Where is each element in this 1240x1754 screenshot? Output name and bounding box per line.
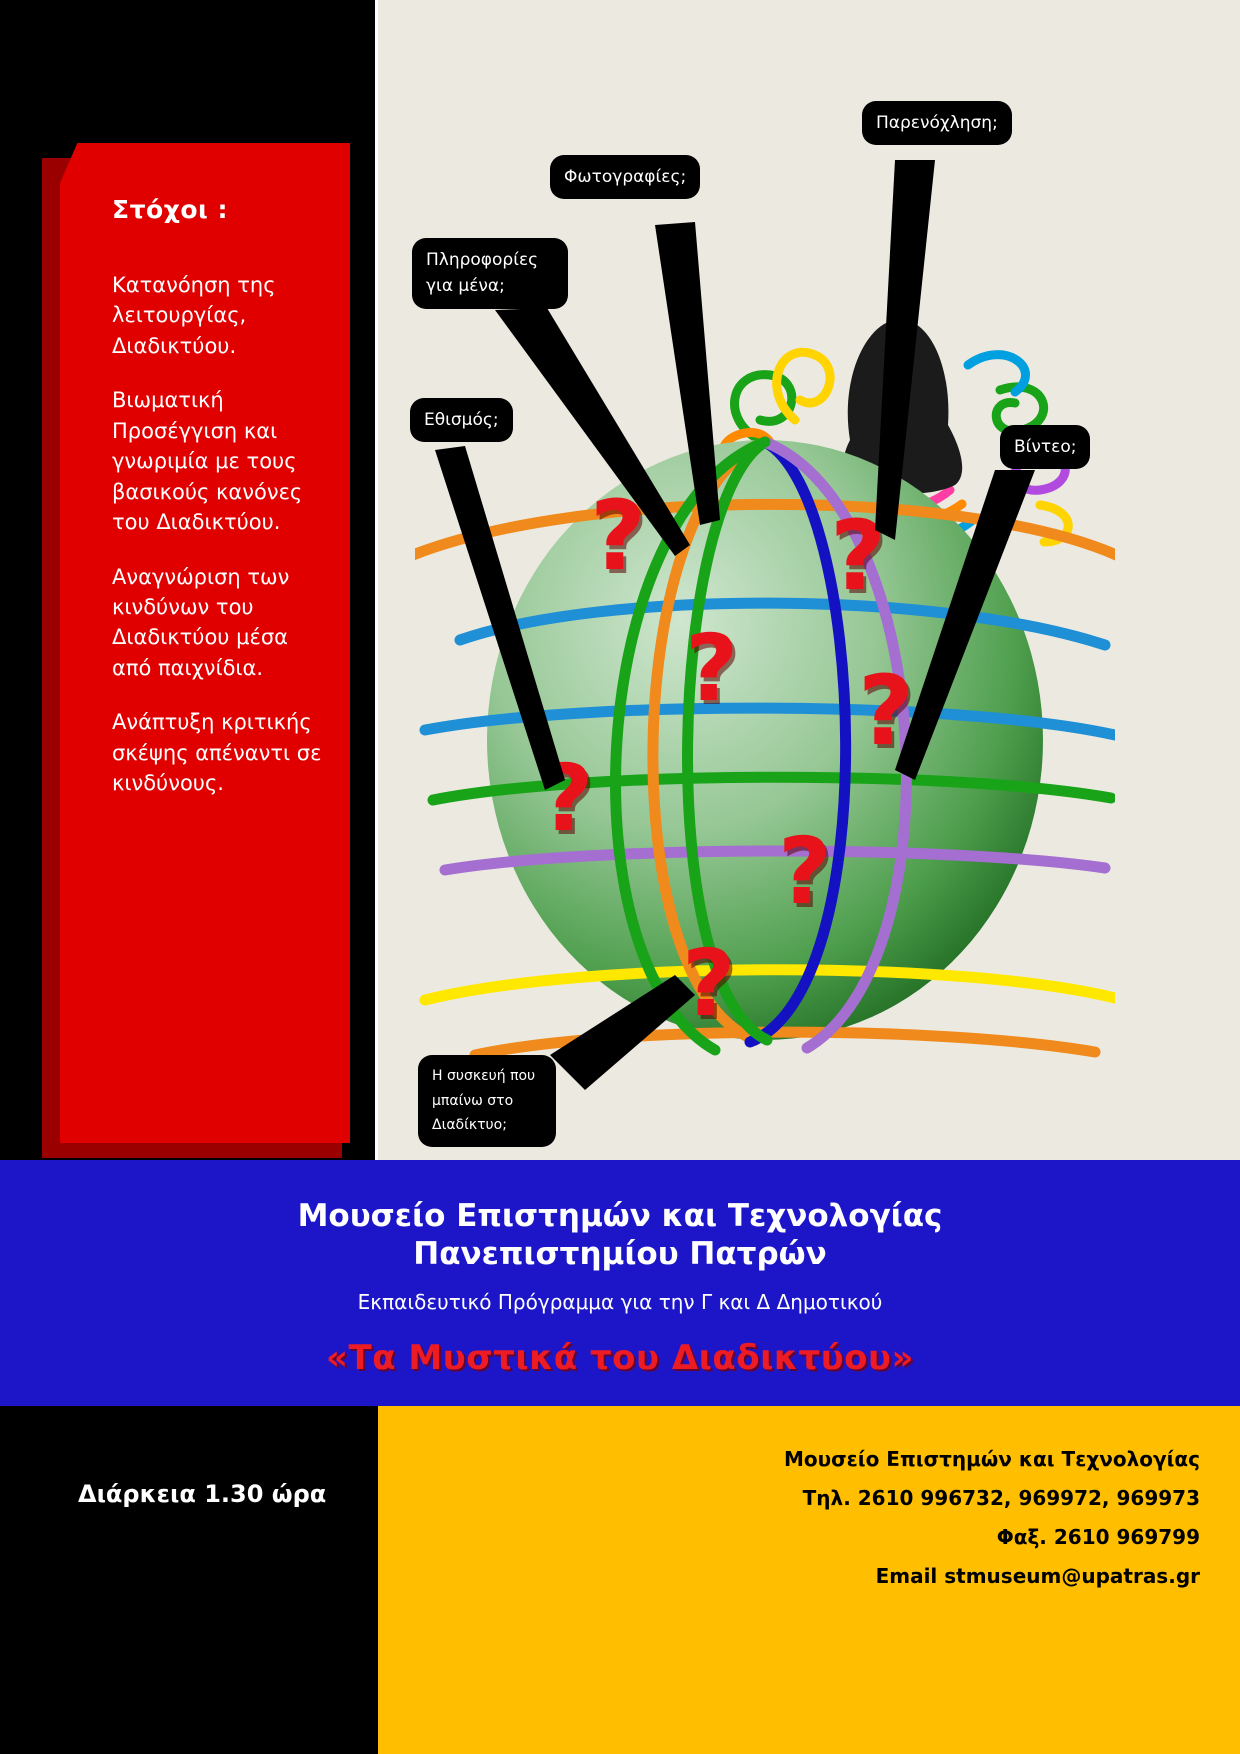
goal-item: Βιωματική Προσέγγιση και γνωριμία με του… [112,385,324,537]
goals-title: Στόχοι : [112,195,324,224]
duration-label: Διάρκεια 1.30 ώρα [78,1480,326,1508]
footer-blue-band: Μουσείο Επιστημών και Τεχνολογίας Πανεπι… [0,1160,1240,1406]
bubble-siskevi: Η συσκευή που μπαίνω στο Διαδίκτυο; [418,1055,556,1147]
bubble-parenoxlisi: Παρενόχληση; [862,101,1012,145]
bubble-vinteo: Βίντεο; [1000,425,1090,469]
program-description: Εκπαιδευτικό Πρόγραμμα για την Γ και Δ Δ… [0,1290,1240,1314]
poster-root: Στόχοι : Κατανόηση της λειτουργίας, Διαδ… [0,0,1240,1754]
contact-fax: Φαξ. 2610 969799 [378,1518,1200,1557]
contact-email: Email stmuseum@upatras.gr [378,1557,1200,1596]
bubble-pointer-lines [375,0,1240,1160]
organization-line-1: Μουσείο Επιστημών και Τεχνολογίας [0,1160,1240,1236]
contact-name: Μουσείο Επιστημών και Τεχνολογίας [378,1440,1200,1479]
bubble-fotografies: Φωτογραφίες; [550,155,700,199]
contact-phone: Τηλ. 2610 996732, 969972, 969973 [378,1479,1200,1518]
program-title: «Τα Μυστικά του Διαδικτύου» [0,1338,1240,1378]
bubble-ethismos: Εθισμός; [410,398,513,442]
bubble-plirofories: Πληροφορίες για μένα; [412,238,568,309]
goal-item: Κατανόηση της λειτουργίας, Διαδικτύου. [112,270,324,361]
goals-card: Στόχοι : Κατανόηση της λειτουργίας, Διαδ… [60,143,350,1143]
contact-box: Μουσείο Επιστημών και Τεχνολογίας Τηλ. 2… [378,1406,1240,1754]
goal-item: Αναγνώριση των κινδύνων του Διαδικτύου μ… [112,562,324,684]
goal-item: Ανάπτυξη κριτικής σκέψης απέναντι σε κιν… [112,707,324,798]
organization-line-2: Πανεπιστημίου Πατρών [0,1236,1240,1274]
